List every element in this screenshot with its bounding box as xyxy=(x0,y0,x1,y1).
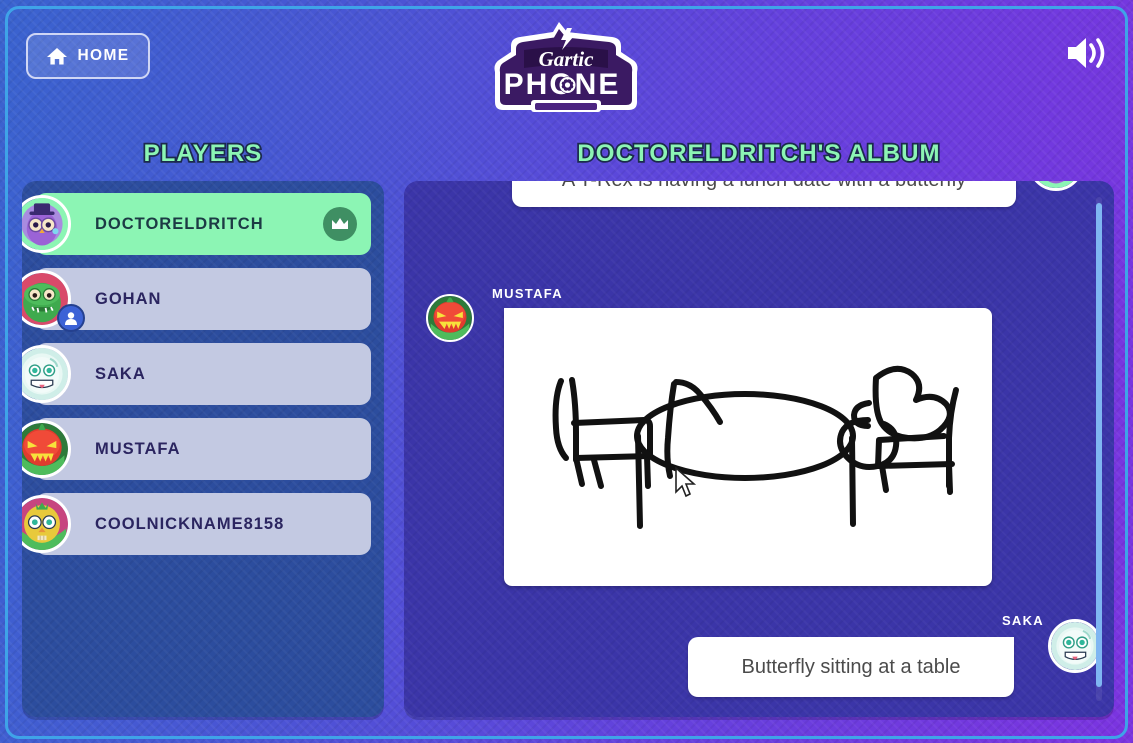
album-scroll-area[interactable]: A T-Rex is having a lunch date with a bu… xyxy=(404,181,1114,717)
album-entry-text-prompt: A T-Rex is having a lunch date with a bu… xyxy=(512,181,1016,207)
player-name: COOLNICKNAME8158 xyxy=(95,515,284,534)
player-name: DOCTORELDRITCH xyxy=(95,215,264,234)
red-pumpkin-monster-avatar xyxy=(426,294,474,342)
speaker-volume-icon[interactable] xyxy=(1061,30,1113,76)
purple-owl-tophat-avatar xyxy=(22,195,71,253)
red-pumpkin-monster-avatar xyxy=(22,420,71,478)
player-row-saka[interactable]: SAKA xyxy=(35,343,371,405)
player-name: MUSTAFA xyxy=(95,440,181,459)
player-row-gohan[interactable]: GOHAN xyxy=(35,268,371,330)
white-ghost-avatar xyxy=(1048,619,1102,673)
player-name: SAKA xyxy=(95,365,146,384)
purple-owl-tophat-avatar xyxy=(1028,181,1084,191)
drawing-canvas[interactable] xyxy=(504,308,992,586)
home-button[interactable]: HOME xyxy=(26,33,150,79)
home-icon xyxy=(46,46,68,66)
album-scrollbar-thumb[interactable] xyxy=(1096,203,1102,687)
yellow-green-bird-avatar xyxy=(22,495,71,553)
players-section-title: PLAYERS xyxy=(0,140,406,168)
prompt-bubble: A T-Rex is having a lunch date with a bu… xyxy=(512,181,1016,207)
white-ghost-avatar xyxy=(22,345,71,403)
album-panel: A T-Rex is having a lunch date with a bu… xyxy=(404,181,1114,717)
player-name: GOHAN xyxy=(95,290,161,309)
entry-author-label: MUSTAFA xyxy=(492,286,563,301)
player-row-mustafa[interactable]: MUSTAFA xyxy=(35,418,371,480)
gartic-phone-app: HOME Gartic PHONE xyxy=(0,0,1133,743)
album-section-title: DOCTORELDRITCH'S ALBUM xyxy=(404,140,1114,168)
home-button-label: HOME xyxy=(77,47,129,65)
player-row-doctoreldritch[interactable]: DOCTORELDRITCH xyxy=(35,193,371,255)
gartic-phone-logo[interactable]: Gartic PHONE xyxy=(487,18,645,128)
guest-person-icon xyxy=(57,304,85,332)
guess-bubble: Butterfly sitting at a table xyxy=(688,637,1014,697)
album-scrollbar-track[interactable] xyxy=(1096,197,1102,701)
top-header: HOME Gartic PHONE xyxy=(0,0,1133,132)
player-row-coolnickname8158[interactable]: COOLNICKNAME8158 xyxy=(35,493,371,555)
entry-author-label: SAKA xyxy=(1002,613,1044,628)
crown-icon xyxy=(323,207,357,241)
players-panel: DOCTORELDRITCH xyxy=(22,181,384,717)
